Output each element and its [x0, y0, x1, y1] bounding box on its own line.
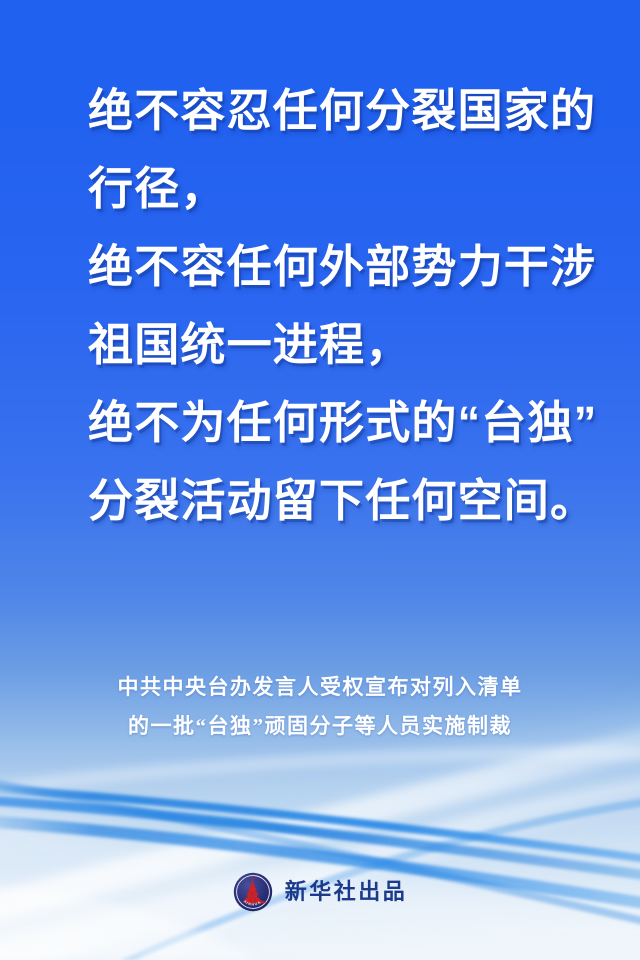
- footer-brand-label: 新华社出品: [285, 881, 408, 903]
- poster-canvas: 绝不容忍任何分裂国家的 行径， 绝不容任何外部势力干涉 祖国统一进程， 绝不为任…: [0, 0, 640, 960]
- subtitle-line-1: 中共中央台办发言人受权宣布对列入清单: [0, 668, 640, 707]
- headline-line-6: 分裂活动留下任何空间。: [88, 462, 588, 540]
- xinhua-emblem-icon: XINHUA: [233, 872, 273, 912]
- subtitle-block: 中共中央台办发言人受权宣布对列入清单 的一批“台独”顽固分子等人员实施制裁: [0, 668, 640, 746]
- footer-credit: XINHUA 新华社出品: [0, 872, 640, 912]
- headline-line-3: 绝不容任何外部势力干涉: [88, 228, 588, 306]
- headline-line-5: 绝不为任何形式的“台独”: [88, 384, 588, 462]
- headline-line-1: 绝不容忍任何分裂国家的: [88, 72, 588, 150]
- headline-line-2: 行径，: [88, 150, 588, 228]
- headline-line-4: 祖国统一进程，: [88, 306, 588, 384]
- subtitle-line-2: 的一批“台独”顽固分子等人员实施制裁: [0, 707, 640, 746]
- headline-block: 绝不容忍任何分裂国家的 行径， 绝不容任何外部势力干涉 祖国统一进程， 绝不为任…: [88, 72, 588, 540]
